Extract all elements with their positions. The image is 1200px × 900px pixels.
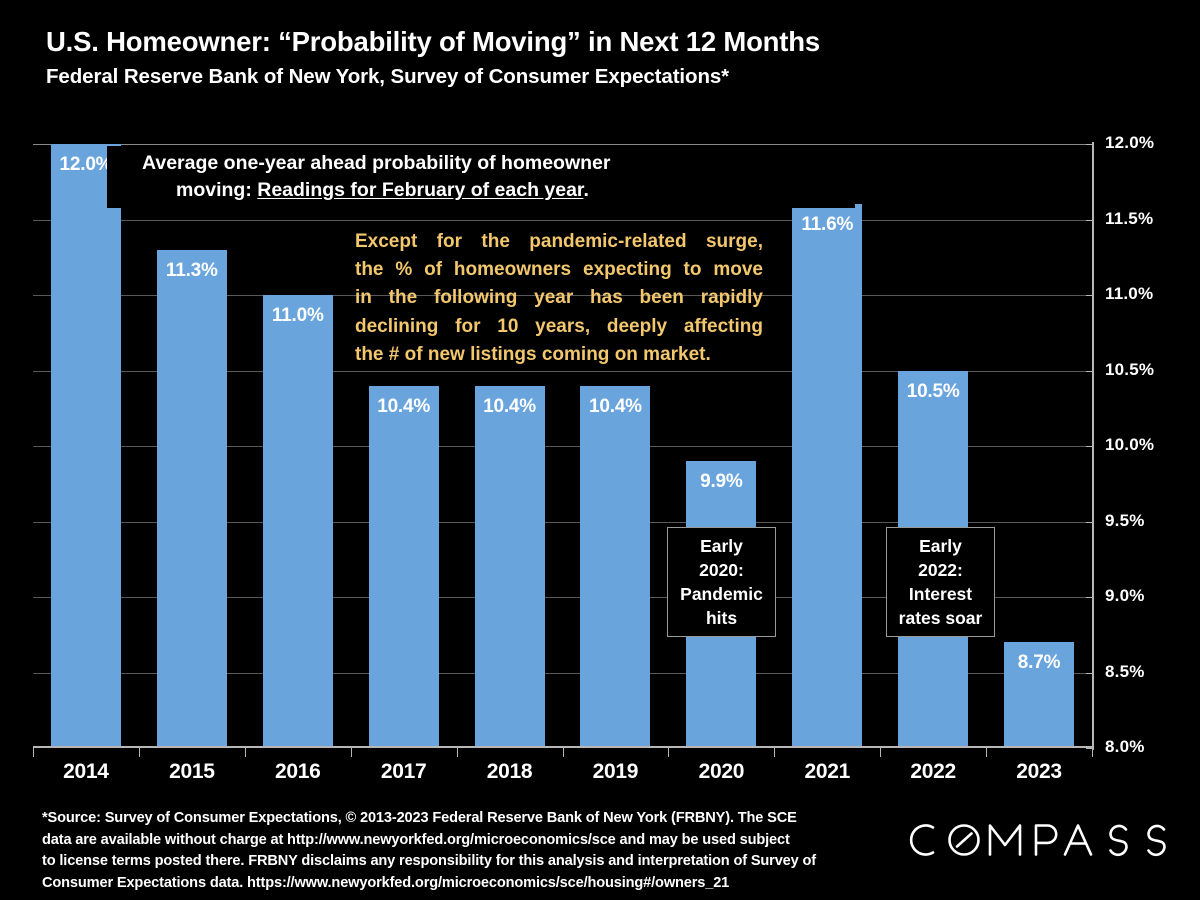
y-axis-tick-label: 11.0% (1105, 284, 1153, 304)
x-axis-label-2019: 2019 (563, 760, 669, 784)
x-axis-tick (457, 748, 458, 757)
x-axis-tick (1092, 748, 1093, 757)
interest-rates-callout-line-3: Interest (909, 582, 972, 606)
x-axis-label-2022: 2022 (880, 760, 986, 784)
x-axis-tick (33, 748, 34, 757)
y-axis-tick (1086, 446, 1094, 447)
y-axis-tick (1086, 220, 1094, 221)
annotation-gold-line-4: declining for 10 years, deeply affecting (355, 313, 763, 341)
bar-value-label-2018: 10.4% (469, 396, 551, 418)
bar-value-label-2023: 8.7% (998, 652, 1080, 674)
x-axis-label-2015: 2015 (139, 760, 245, 784)
x-axis-tick (139, 748, 140, 757)
source-footnote: *Source: Survey of Consumer Expectations… (42, 808, 862, 894)
x-axis-tick (563, 748, 564, 757)
x-axis-tick (351, 748, 352, 757)
header: U.S. Homeowner: “Probability of Moving” … (46, 26, 1146, 89)
bar-value-label-2022: 10.5% (892, 381, 974, 403)
bar-value-label-2017: 10.4% (363, 396, 445, 418)
gridline (33, 144, 1092, 145)
x-axis-label-2023: 2023 (986, 760, 1092, 784)
bar-2014[interactable] (51, 144, 121, 748)
annotation-banner-prefix: moving: (176, 179, 257, 201)
x-axis-label-2018: 2018 (457, 760, 563, 784)
slide-canvas: U.S. Homeowner: “Probability of Moving” … (0, 0, 1200, 900)
y-axis-tick (1086, 597, 1094, 598)
annotation-banner-line-2: moving: Readings for February of each ye… (142, 177, 855, 204)
x-axis-label-2016: 2016 (245, 760, 351, 784)
gridline (33, 220, 1092, 221)
annotation-gold-line-5: the # of new listings coming on market. (355, 341, 763, 369)
annotation-gold: Except for the pandemic-related surge, t… (355, 228, 763, 369)
bar-value-label-2016: 11.0% (257, 305, 339, 327)
bar-value-label-2019: 10.4% (574, 396, 656, 418)
annotation-banner-underlined: Readings for February of each year (257, 179, 583, 201)
x-axis-tick (668, 748, 669, 757)
annotation-gold-line-3: in the following year has been rapidly (355, 284, 763, 312)
x-axis-tick (245, 748, 246, 757)
annotation-gold-line-2: the % of homeowners expecting to move (355, 256, 763, 284)
bar-2017[interactable] (369, 386, 439, 748)
footnote-line-3: to license terms posted there. FRBNY dis… (42, 851, 862, 873)
pandemic-callout: Early2020:Pandemichits (667, 527, 776, 637)
y-axis-tick-label: 12.0% (1105, 133, 1154, 153)
y-axis-tick-label: 10.0% (1105, 435, 1154, 455)
interest-rates-callout-line-1: Early (919, 534, 962, 558)
pandemic-callout-line-2: 2020: (699, 558, 744, 582)
annotation-banner-suffix: . (583, 179, 588, 201)
y-axis-tick-label: 10.5% (1105, 360, 1154, 380)
bar-value-label-2020: 9.9% (680, 471, 762, 493)
footnote-line-2: data are available without charge at htt… (42, 830, 862, 852)
bar-value-label-2015: 11.3% (151, 260, 233, 282)
footnote-line-4: Consumer Expectations data. https://www.… (42, 873, 862, 895)
pandemic-callout-line-1: Early (700, 534, 743, 558)
annotation-gold-line-1: Except for the pandemic-related surge, (355, 228, 763, 256)
bar-2016[interactable] (263, 295, 333, 748)
x-axis-label-2021: 2021 (774, 760, 880, 784)
y-axis-tick-label: 9.5% (1105, 511, 1145, 531)
interest-rates-callout-line-2: 2022: (918, 558, 963, 582)
bar-2018[interactable] (475, 386, 545, 748)
bar-2015[interactable] (157, 250, 227, 748)
page-title: U.S. Homeowner: “Probability of Moving” … (46, 26, 1146, 58)
compass-logo (904, 818, 1172, 862)
bar-value-label-2021: 11.6% (786, 214, 868, 236)
pandemic-callout-line-4: hits (706, 606, 737, 630)
x-axis-tick (880, 748, 881, 757)
annotation-gold-paragraph: Except for the pandemic-related surge, t… (355, 228, 763, 369)
x-axis-label-2020: 2020 (668, 760, 774, 784)
interest-rates-callout-line-4: rates soar (899, 606, 983, 630)
interest-rates-callout: Early2022:Interestrates soar (886, 527, 995, 637)
y-axis-tick-label: 11.5% (1105, 209, 1153, 229)
y-axis-tick-label: 8.0% (1105, 737, 1145, 757)
pandemic-callout-line-3: Pandemic (680, 582, 763, 606)
y-axis-tick (1086, 522, 1094, 523)
y-axis-tick (1086, 673, 1094, 674)
x-axis-tick (986, 748, 987, 757)
x-axis-label-2014: 2014 (33, 760, 139, 784)
x-axis-label-2017: 2017 (351, 760, 457, 784)
annotation-banner: Average one-year ahead probability of ho… (107, 146, 855, 208)
footnote-line-1: *Source: Survey of Consumer Expectations… (42, 808, 862, 830)
annotation-banner-line-1: Average one-year ahead probability of ho… (142, 150, 855, 177)
y-axis-tick (1086, 295, 1094, 296)
y-axis-tick (1086, 144, 1094, 145)
bar-2019[interactable] (580, 386, 650, 748)
y-axis-tick-label: 9.0% (1105, 586, 1145, 606)
x-axis-tick (774, 748, 775, 757)
page-subtitle: Federal Reserve Bank of New York, Survey… (46, 65, 1146, 89)
y-axis-tick (1086, 371, 1094, 372)
bar-2021[interactable] (792, 204, 862, 748)
y-axis-tick-label: 8.5% (1105, 662, 1145, 682)
